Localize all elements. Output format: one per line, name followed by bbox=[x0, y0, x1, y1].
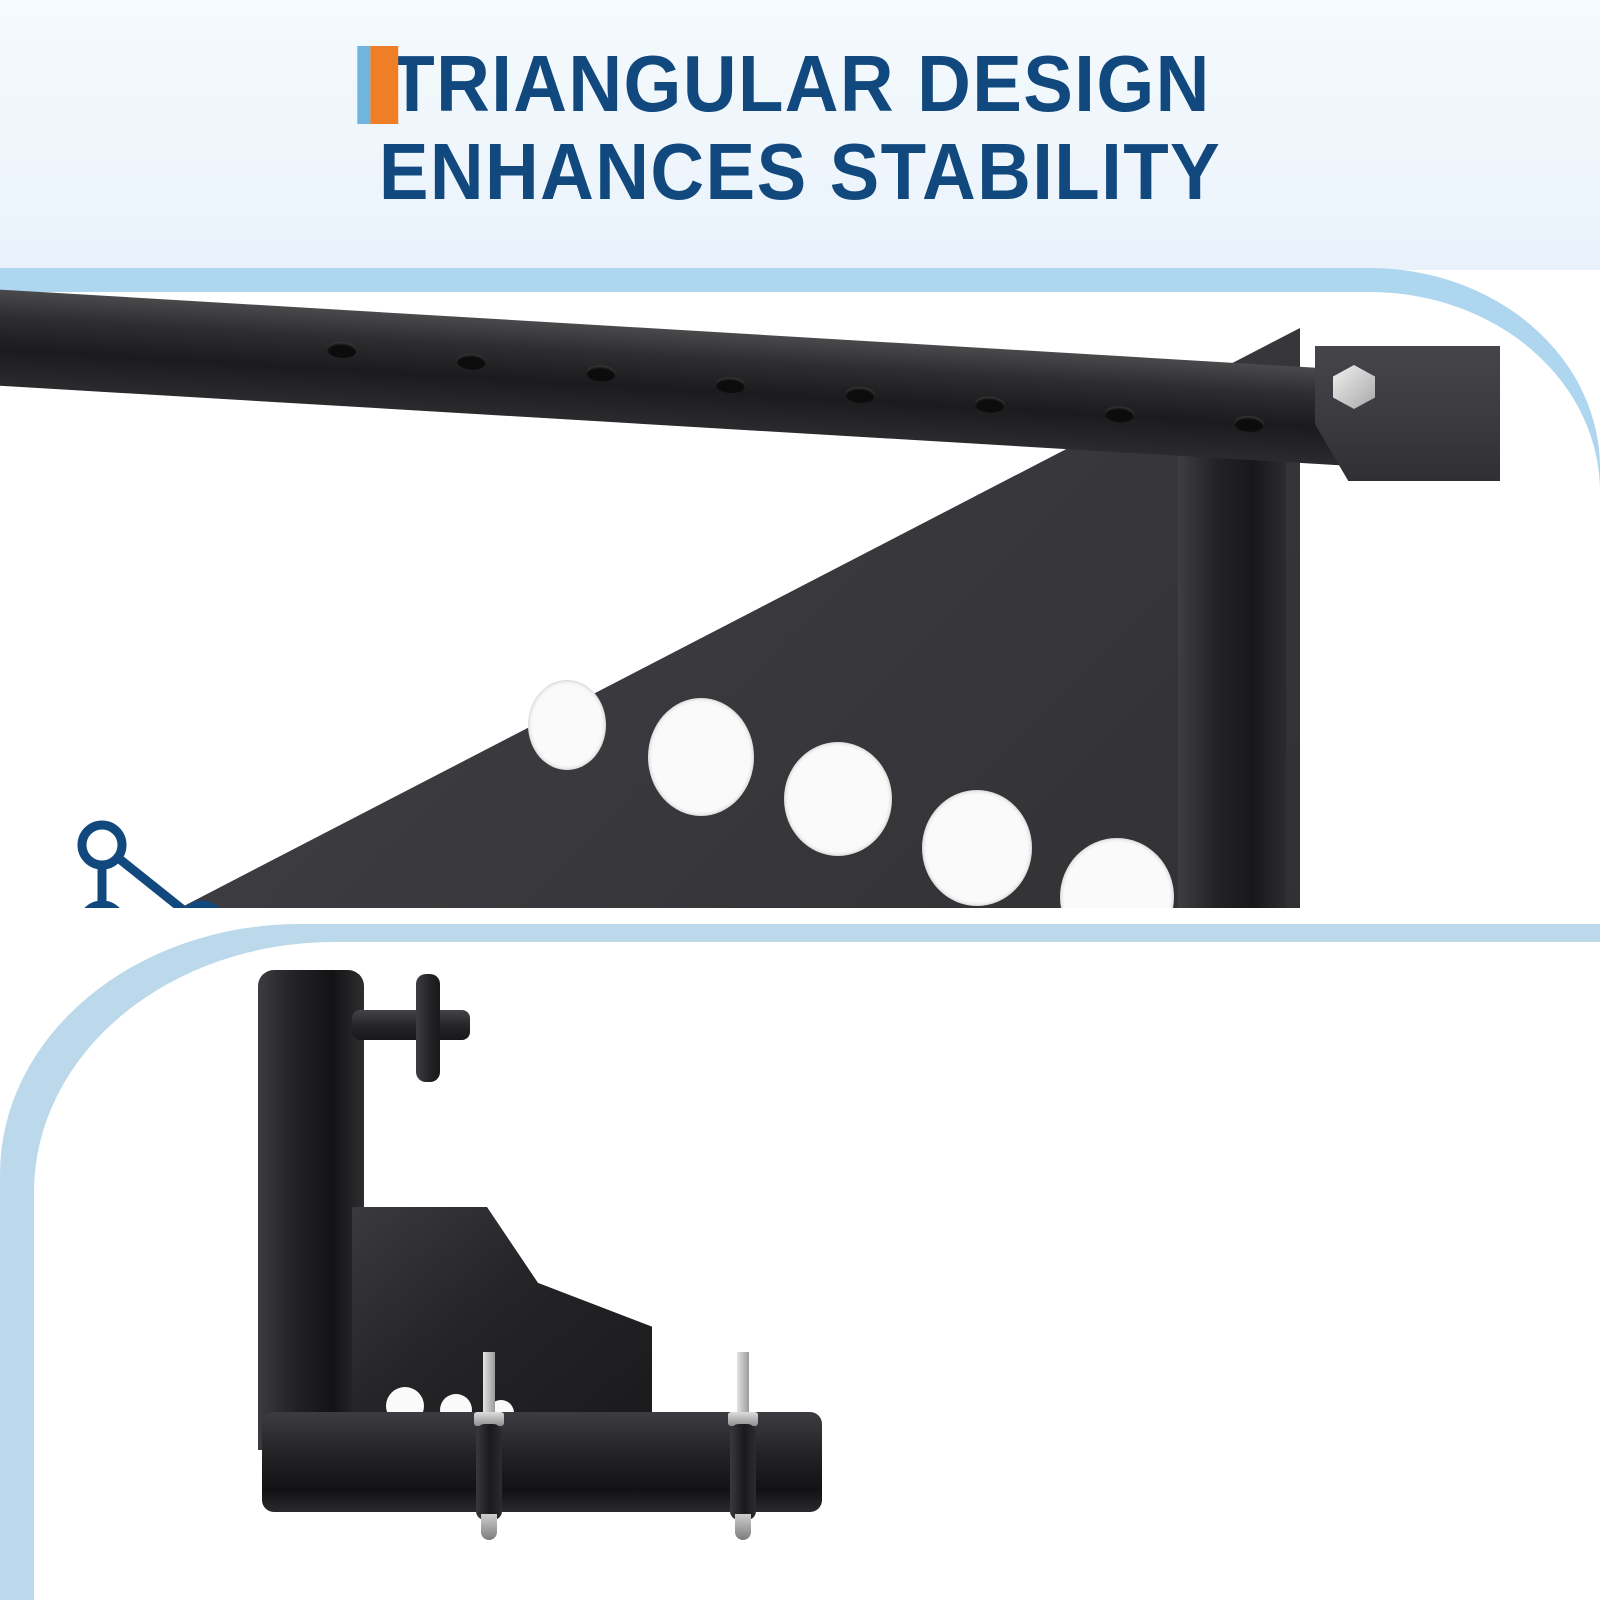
title-line-1: TRIANGULAR DESIGN bbox=[389, 39, 1210, 128]
end-mounting-plate bbox=[1315, 346, 1500, 481]
feature-one-panel: The Triangular Support Plat Prevents the… bbox=[0, 268, 1600, 908]
rope-hook-sleeve bbox=[476, 1424, 502, 1520]
rail-hole bbox=[586, 364, 617, 382]
vertical-post bbox=[1178, 388, 1286, 908]
eyelet-arm-shaft bbox=[352, 1010, 470, 1040]
accent-bar-blue bbox=[358, 46, 371, 124]
product-photo-l-bracket bbox=[0, 912, 1600, 1600]
feature-two-panel: Integrated Upper and Lower Eyelet Tie-do… bbox=[0, 912, 1600, 1600]
rail-hole bbox=[326, 341, 357, 359]
infographic-page: TRIANGULAR DESIGN ENHANCES STABILITY bbox=[0, 0, 1600, 1600]
rail-hole bbox=[1234, 415, 1265, 433]
title-line-1-row: TRIANGULAR DESIGN bbox=[56, 40, 1544, 128]
triangle-support-icon bbox=[72, 820, 232, 908]
top-rail-tube bbox=[0, 286, 1417, 470]
rope-hook-tip bbox=[735, 1514, 751, 1540]
rail-hole bbox=[845, 386, 876, 404]
gusset-hole bbox=[648, 698, 754, 816]
product-photo-rail-gusset bbox=[0, 268, 1600, 908]
title-line-2: ENHANCES STABILITY bbox=[56, 128, 1544, 216]
rail-hole bbox=[974, 396, 1005, 414]
accent-bar-orange bbox=[371, 46, 399, 124]
rope-hook-tip bbox=[481, 1514, 497, 1540]
page-title: TRIANGULAR DESIGN ENHANCES STABILITY bbox=[0, 40, 1600, 216]
gusset-hole bbox=[528, 680, 606, 770]
rail-hole bbox=[715, 376, 746, 394]
eyelet-arm-end-cap bbox=[416, 974, 440, 1082]
feature-one-caption: The Triangular Support Plat Prevents the… bbox=[72, 820, 972, 908]
rail-hole bbox=[456, 353, 487, 371]
rail-hole bbox=[1104, 405, 1135, 423]
header-banner: TRIANGULAR DESIGN ENHANCES STABILITY bbox=[0, 0, 1600, 270]
rope-hook-sleeve bbox=[730, 1424, 756, 1520]
accent-bars bbox=[358, 46, 399, 124]
bracket-upright-post bbox=[258, 970, 364, 1450]
